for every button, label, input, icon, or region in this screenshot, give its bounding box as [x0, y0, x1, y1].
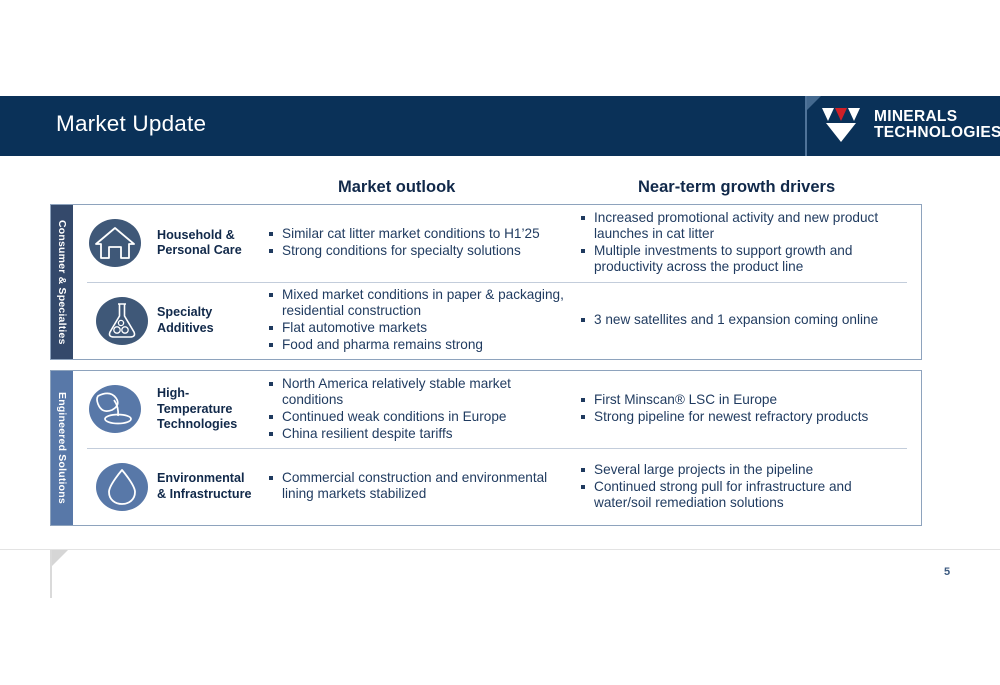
bullet-list: Increased promotional activity and new p…	[581, 210, 911, 275]
footer-accent-triangle-icon	[52, 550, 68, 566]
page-title: Market Update	[56, 111, 206, 137]
list-item: Mixed market conditions in paper & packa…	[269, 287, 571, 319]
outlook-bullets-high-temperature: North America relatively stable market c…	[269, 376, 581, 443]
bullet-list: North America relatively stable market c…	[269, 376, 571, 442]
ladle-icon	[88, 382, 142, 436]
flask-icon	[95, 294, 149, 348]
segment-name-line2: Personal Care	[157, 243, 263, 258]
list-item: China resilient despite tariffs	[269, 426, 571, 442]
drivers-bullets-environmental: Several large projects in the pipeline C…	[581, 462, 907, 512]
segment-name-line1: Specialty	[157, 305, 263, 320]
page-number: 5	[944, 566, 950, 578]
bullet-list: First Minscan® LSC in Europe Strong pipe…	[581, 392, 911, 425]
list-item: First Minscan® LSC in Europe	[581, 392, 911, 408]
outlook-bullets-household: Similar cat litter market conditions to …	[269, 226, 581, 260]
drivers-bullets-specialty-additives: 3 new satellites and 1 expansion coming …	[581, 312, 907, 329]
group-tab-label: Consumer & Specialties	[56, 220, 68, 345]
list-item: Continued weak conditions in Europe	[269, 409, 571, 425]
list-item: North America relatively stable market c…	[269, 376, 571, 408]
logo-line-2: TECHNOLOGIES	[874, 125, 1000, 141]
drivers-bullets-household: Increased promotional activity and new p…	[581, 210, 921, 276]
segment-name-line2: Additives	[157, 321, 263, 336]
segment-name-specialty-additives: Specialty Additives	[157, 305, 269, 336]
segment-name-line2: Temperature	[157, 402, 263, 417]
footer-divider	[0, 549, 1000, 550]
column-header-market-outlook: Market outlook	[338, 178, 455, 197]
list-item: Commercial construction and environmenta…	[269, 470, 571, 502]
list-item: Continued strong pull for infrastructure…	[581, 479, 897, 511]
column-header-growth-drivers: Near-term growth drivers	[638, 178, 835, 197]
list-item: Strong conditions for specialty solution…	[269, 243, 571, 259]
bullet-list: 3 new satellites and 1 expansion coming …	[581, 312, 897, 328]
bullet-list: Similar cat litter market conditions to …	[269, 226, 571, 259]
list-item: Strong pipeline for newest refractory pr…	[581, 409, 911, 425]
list-item: Increased promotional activity and new p…	[581, 210, 911, 242]
segment-row-specialty-additives: Specialty Additives Mixed market conditi…	[87, 282, 907, 360]
group-tab-label: Engineered Solutions	[56, 392, 68, 504]
group-tab-consumer-specialties: Consumer & Specialties	[51, 205, 73, 359]
segment-row-high-temperature-technologies: High- Temperature Technologies North Ame…	[73, 371, 921, 448]
bullet-list: Commercial construction and environmenta…	[269, 470, 571, 502]
list-item: Food and pharma remains strong	[269, 337, 571, 353]
header-accent-triangle-icon	[807, 96, 821, 110]
segment-name-household-personal-care: Household & Personal Care	[157, 228, 269, 259]
water-drop-icon	[95, 460, 149, 514]
segment-name-line1: Household &	[157, 228, 263, 243]
segment-icon-wrap	[87, 294, 157, 348]
segment-icon-wrap	[87, 460, 157, 514]
group-engineered-solutions: Engineered Solutions High- Temperature T…	[50, 370, 922, 526]
slide-canvas: Market Update MINERALS TECHNOLOGIES Mark…	[0, 0, 1000, 685]
list-item: Multiple investments to support growth a…	[581, 243, 911, 275]
group-body: Household & Personal Care Similar cat li…	[73, 205, 921, 359]
outlook-bullets-specialty-additives: Mixed market conditions in paper & packa…	[269, 287, 581, 354]
segment-name-high-temperature-technologies: High- Temperature Technologies	[157, 386, 269, 432]
segment-row-household-personal-care: Household & Personal Care Similar cat li…	[73, 205, 921, 282]
outlook-bullets-environmental: Commercial construction and environmenta…	[269, 470, 581, 503]
logo-wordmark: MINERALS TECHNOLOGIES	[874, 109, 1000, 142]
group-tab-engineered-solutions: Engineered Solutions	[51, 371, 73, 525]
list-item: 3 new satellites and 1 expansion coming …	[581, 312, 897, 328]
house-icon	[88, 216, 142, 270]
triangles-logo-mark-icon	[822, 106, 866, 144]
company-logo: MINERALS TECHNOLOGIES	[822, 104, 1000, 146]
segment-name-environmental-infrastructure: Environmental & Infrastructure	[157, 471, 269, 502]
group-body: High- Temperature Technologies North Ame…	[73, 371, 921, 525]
bullet-list: Several large projects in the pipeline C…	[581, 462, 897, 511]
segment-name-line2: & Infrastructure	[157, 487, 263, 502]
segment-name-line1: Environmental	[157, 471, 263, 486]
bullet-list: Mixed market conditions in paper & packa…	[269, 287, 571, 353]
segment-row-environmental-infrastructure: Environmental & Infrastructure Commercia…	[87, 448, 907, 526]
segment-icon-wrap	[73, 382, 157, 436]
list-item: Several large projects in the pipeline	[581, 462, 897, 478]
segment-name-line1: High-	[157, 386, 263, 401]
drivers-bullets-high-temperature: First Minscan® LSC in Europe Strong pipe…	[581, 392, 921, 426]
segment-name-line3: Technologies	[157, 417, 263, 432]
group-consumer-specialties: Consumer & Specialties Household & Perso…	[50, 204, 922, 360]
logo-line-1: MINERALS	[874, 108, 957, 125]
list-item: Flat automotive markets	[269, 320, 571, 336]
list-item: Similar cat litter market conditions to …	[269, 226, 571, 242]
segment-icon-wrap	[73, 216, 157, 270]
